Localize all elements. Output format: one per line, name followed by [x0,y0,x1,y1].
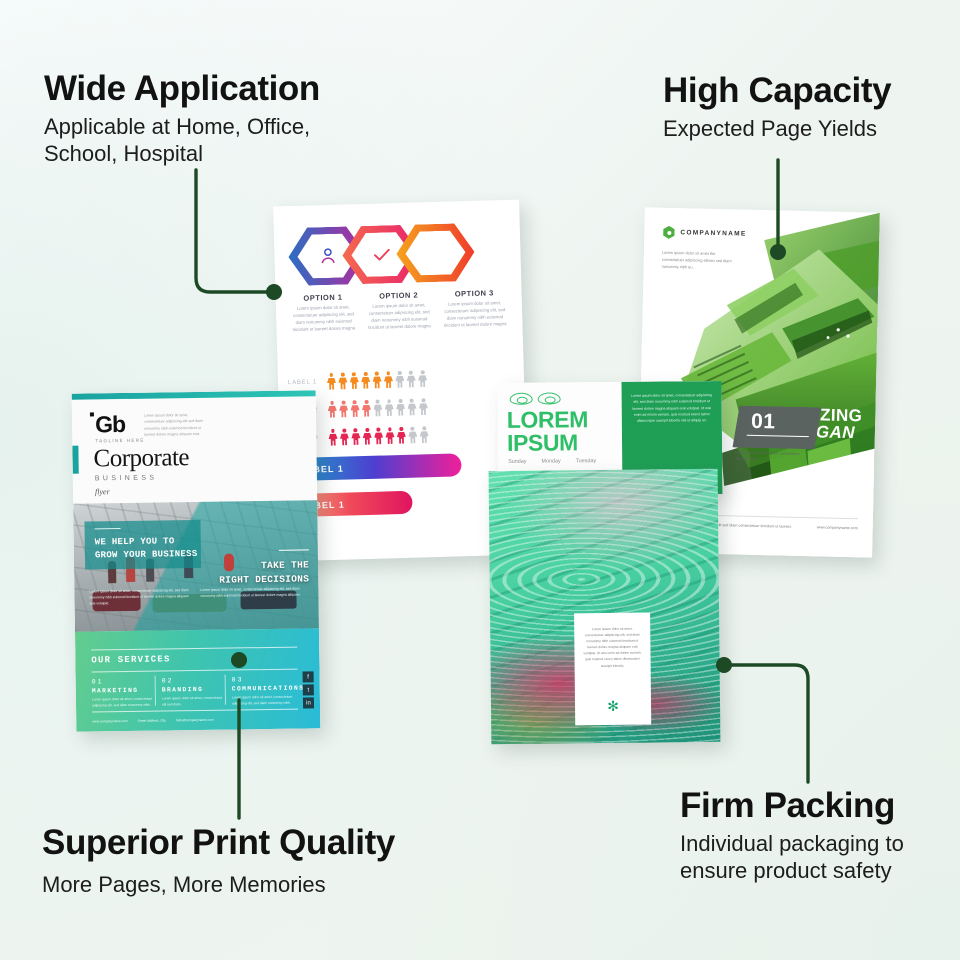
pictogram-figure [396,399,405,416]
leaf-eye-logo [510,392,561,404]
pictogram-figures [328,398,429,418]
pictogram-figure [384,399,393,416]
corporate-body-col-1: Lorem ipsum dolor sit amet, consectetuer… [89,588,192,607]
marble-text-card: Lorem ipsum dolor sit amet, consectetuer… [574,613,651,726]
pictogram-figure [338,373,347,390]
pictogram-figures [327,370,428,390]
option-column-1: OPTION 1 Lorem ipsum dolor sit amet, con… [288,292,360,334]
pictogram-figure [407,399,416,416]
facebook-icon: f [303,671,314,682]
pictogram-figure [397,427,406,444]
service-body: Lorem ipsum dolor sit amet, consectetuer… [232,695,304,707]
poster-corporate-brochure: Gb TAGLINE HERE Lorem ipsum dolor sit am… [72,390,321,731]
service-name: COMMUNICATIONS [232,685,304,693]
corporate-body-columns: Lorem ipsum dolor sit amet, consectetuer… [89,587,303,608]
option-body: Lorem ipsum dolor sit amet, consectetuer… [288,304,359,334]
twitter-icon: t [303,684,314,695]
pictogram-figure [327,373,336,390]
service-name: BRANDING [162,686,224,694]
marble-card-body: Lorem ipsum dolor sit amet, consectetuer… [582,626,642,669]
hexagon-row [288,223,476,286]
corporate-logo-tagline: TAGLINE HERE [95,438,145,444]
feature-subtitle-line-1: More Pages, More Memories [42,872,326,897]
pictogram-figure [361,372,370,389]
pictogram-figure [384,371,393,388]
service-number: 03 [232,676,304,684]
service-body: Lorem ipsum dolor sit amet, consectetuer… [162,696,224,708]
green-lorem-text: Lorem ipsum dolor sit amet the consectet… [662,250,734,272]
corporate-take-headline: TAKE THE RIGHT DECISIONS [185,558,309,588]
linkedin-icon: in [303,697,314,708]
green-company-logo: COMPANYNAME [662,226,746,241]
hexagon-option-3 [396,223,476,283]
leaf-icon [538,392,561,404]
footer-item-3: hello@companyname.com [176,718,214,723]
pictogram-figure [328,401,337,418]
option-label: OPTION 2 [363,290,434,301]
green-number-badge: 01 [733,405,822,449]
connector-dot-firm-packing [716,657,732,673]
day-2: Monday [541,458,560,464]
corporate-headline-band: WE HELP YOU TO GROW YOUR BUSINESS [84,520,201,570]
green-number-rule [747,435,809,438]
pictogram-figure [373,400,382,417]
connector-dot-superior-print [231,652,247,668]
logo-square [90,412,94,416]
corporate-social-icons: f t in [303,671,315,708]
band-line-2: GROW YOUR BUSINESS [95,548,198,562]
service-number: 01 [92,678,154,686]
corporate-header-lorem: Lorem ipsum dolor sit amet, consectetuer… [144,412,206,438]
connector-dot-wide-application [266,284,282,300]
connector-dot-high-capacity [770,244,786,260]
lorem-title-line-2: IPSUM [507,431,588,454]
feature-title: Firm Packing [680,787,904,825]
green-company-name: COMPANYNAME [680,229,746,237]
pictogram-figure [362,400,371,417]
corporate-services-title: OUR SERVICES [91,654,170,665]
green-number: 01 [751,410,776,435]
feature-high-capacity: High Capacity Expected Page Yields [663,72,891,142]
pictogram-figure [406,371,415,388]
pictogram-figure [385,427,394,444]
lorem-days: Sunday Monday Tuesday [508,458,596,465]
feature-firm-packing: Firm Packing Individual packaging to ens… [680,787,904,885]
pictogram-figure [408,427,417,444]
feature-title: High Capacity [663,72,891,110]
green-number-body: Lorem ipsum dolor sit amet, consectetuer… [735,450,807,464]
option-label: OPTION 1 [288,292,359,303]
corporate-title: Corporate [93,444,189,473]
service-item-3: 03 COMMUNICATIONS Lorem ipsum dolor sit … [232,676,304,707]
service-name: MARKETING [92,687,154,695]
option-body: Lorem ipsum dolor sit amet, consectetuer… [439,300,510,330]
corporate-logo: Gb [95,411,125,438]
service-item-1: 01 MARKETING Lorem ipsum dolor sit amet,… [92,678,154,709]
feature-subtitle: Expected Page Yields [663,115,891,143]
pictogram-figure [328,429,337,446]
feature-subtitle-line-2: School, Hospital [44,141,203,166]
feature-subtitle: More Pages, More Memories [42,871,395,899]
feature-subtitle: Applicable at Home, Office, School, Hosp… [44,113,320,168]
poster-marble-art: Lorem ipsum dolor sit amet, consectetuer… [489,469,721,744]
pictogram-figure [351,428,360,445]
corporate-side-tab [72,446,78,474]
pictogram-figures [328,426,429,446]
option-column-2: OPTION 2 Lorem ipsum dolor sit amet, con… [363,290,435,332]
feature-superior-print-quality: Superior Print Quality More Pages, More … [42,824,395,898]
feature-subtitle-line-1: Expected Page Yields [663,116,877,141]
day-3: Tuesday [576,458,597,464]
feature-title: Wide Application [44,70,320,108]
option-label: OPTION 3 [439,288,510,299]
band-rule [95,528,121,530]
corporate-subtitle: BUSINESS [95,475,158,483]
pictogram-figure [350,400,359,417]
option-column-3: OPTION 3 Lorem ipsum dolor sit amet, con… [439,288,511,330]
pictogram-figure [418,370,427,387]
connector-wide-application [196,170,272,292]
service-number: 02 [162,677,224,685]
pictogram-row: LABEL 1 [288,370,428,391]
lorem-title: LOREM IPSUM [507,408,588,454]
feature-subtitle-line-2: ensure product safety [680,858,892,883]
pictogram-figure [350,372,359,389]
logo-text: Gb [95,411,125,437]
pictogram-figure [419,398,428,415]
band-text: WE HELP YOU TO GROW YOUR BUSINESS [95,535,198,563]
feature-subtitle-line-1: Applicable at Home, Office, [44,114,310,139]
asterisk-icon: ✻ [607,699,619,713]
pictogram-figure [340,428,349,445]
pictogram-figure [374,428,383,445]
feature-subtitle-line-1: Individual packaging to [680,831,904,856]
pictogram-figure [339,400,348,417]
footer-item-2: Street Address, City [138,718,166,722]
day-1: Sunday [508,459,526,465]
feature-wide-application: Wide Application Applicable at Home, Off… [44,70,320,168]
hexagon-logo-icon [662,226,675,239]
lorem-title-line-1: LOREM [507,408,588,431]
corporate-flyer-word: flyer [95,487,110,496]
leaf-icon [510,393,533,405]
pictogram-label: LABEL 1 [288,379,322,386]
pictogram-figure [419,426,428,443]
pictogram-figure [362,428,371,445]
option-body: Lorem ipsum dolor sit amet, consectetuer… [364,302,435,332]
pictogram-figure [372,372,381,389]
feature-subtitle: Individual packaging to ensure product s… [680,830,904,885]
service-item-2: 02 BRANDING Lorem ipsum dolor sit amet, … [162,677,224,708]
option-columns: OPTION 1 Lorem ipsum dolor sit amet, con… [288,288,511,334]
lorem-body: Lorem ipsum dolor sit amet, consectetuer… [631,392,713,424]
pictogram-figure [395,371,404,388]
footer-item-1: www.companyname.com [92,719,127,723]
infographic-canvas: OPTION 1 Lorem ipsum dolor sit amet, con… [0,0,960,960]
service-body: Lorem ipsum dolor sit amet, consectetuer… [92,697,154,709]
feature-title: Superior Print Quality [42,824,395,862]
corporate-body-col-2: Lorem ipsum dolor sit amet, consectetuer… [200,587,303,606]
connector-firm-packing [724,665,808,782]
